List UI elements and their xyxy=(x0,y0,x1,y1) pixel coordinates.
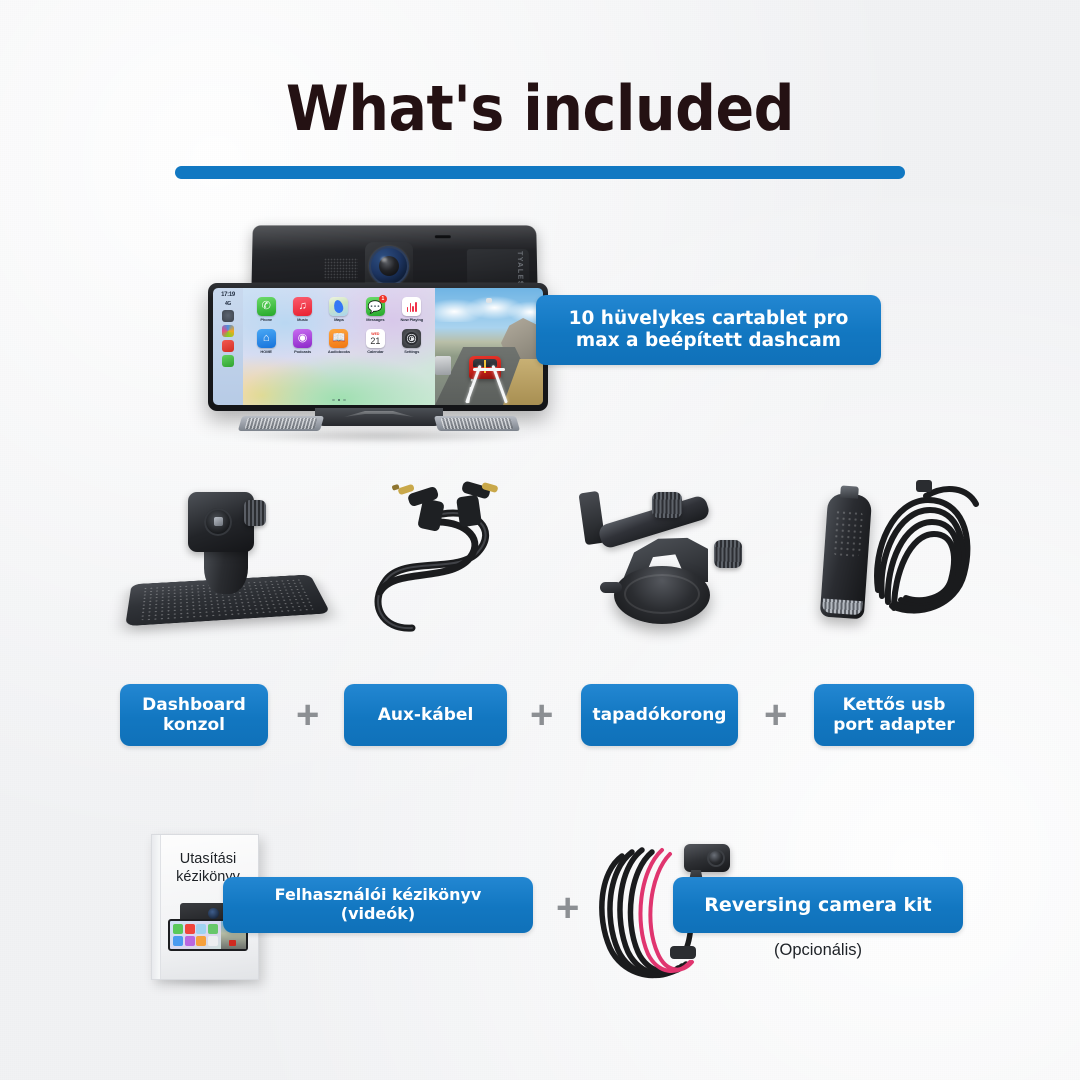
app-label: Audiobooks xyxy=(328,349,350,354)
usb-cable-coil-drawing xyxy=(806,478,996,646)
suction-cup-mount-image xyxy=(578,474,768,646)
page-title: What's included xyxy=(43,78,1037,140)
device-screen-bezel: 17:19 4G ✆ Phone ♫ xyxy=(208,283,548,411)
reverse-camera-lens-icon xyxy=(707,849,725,867)
aux-cable-drawing xyxy=(346,478,526,646)
app-label: Messages xyxy=(366,317,384,322)
map-pin-shape xyxy=(333,299,345,314)
carplay-app-audiobooks[interactable]: 📖 Audiobooks xyxy=(321,329,357,354)
manual-spine xyxy=(152,835,161,979)
app-label: HOME xyxy=(260,349,272,354)
equalizer-bars xyxy=(407,302,418,312)
mount-lock-knob-side xyxy=(714,540,742,568)
accessory-label-aux-cable: Aux-kábel xyxy=(344,684,507,746)
carplay-app-calendar[interactable]: WED 21 Calendar xyxy=(357,329,393,354)
record-icon[interactable] xyxy=(222,340,234,352)
camera-lens-ring xyxy=(369,246,409,286)
reversing-camera-label-pill: Reversing camera kit xyxy=(673,877,963,933)
carplay-app-now-playing[interactable]: Now Playing xyxy=(394,297,430,322)
oncoming-vehicle xyxy=(435,356,451,375)
manual-title-line-1: Utasítási xyxy=(180,851,236,867)
stand-grip-pad-right xyxy=(434,416,520,431)
settings-icon xyxy=(402,329,421,348)
header: What's included xyxy=(0,78,1080,179)
page-indicator-dots[interactable] xyxy=(243,399,435,402)
device-display: 17:19 4G ✆ Phone ♫ xyxy=(213,288,543,405)
messages-icon: 💬 1 xyxy=(366,297,385,316)
apps-grid-icon[interactable] xyxy=(222,325,234,337)
carplay-app-settings[interactable]: Settings xyxy=(394,329,430,354)
reverse-camera-module xyxy=(684,844,730,872)
calendar-icon: WED 21 xyxy=(366,329,385,348)
label-line-1: Kettős usb xyxy=(843,695,946,715)
app-label: Now Playing xyxy=(400,317,423,322)
maps-icon xyxy=(329,297,348,316)
carplay-app-phone[interactable]: ✆ Phone xyxy=(248,297,284,322)
car-detail-stripe xyxy=(484,360,486,373)
phone-icon: ✆ xyxy=(257,297,276,316)
manual-photo-lens-icon xyxy=(208,908,219,919)
app-label: Settings xyxy=(404,349,419,354)
accessory-label-suction-cup: tapadókorong xyxy=(581,684,738,746)
device-stand xyxy=(236,408,522,434)
suction-cup-base xyxy=(614,566,710,624)
manual-photo-app-grid xyxy=(170,921,221,949)
app-label: Calendar xyxy=(367,349,383,354)
accessory-image-row xyxy=(0,472,1080,652)
settings-play-shape xyxy=(411,337,415,341)
audiobooks-icon: 📖 xyxy=(329,329,348,348)
now-playing-icon xyxy=(402,297,421,316)
speaker-grille-icon xyxy=(324,258,358,280)
carplay-app-home[interactable]: ⌂ HOME xyxy=(248,329,284,354)
carplay-app-podcasts[interactable]: ◉ Podcasts xyxy=(284,329,320,354)
plus-separator-1: + xyxy=(296,695,319,735)
calendar-date: 21 xyxy=(370,337,380,346)
plus-separator-3: + xyxy=(764,695,787,735)
app-label: Maps xyxy=(334,317,344,322)
carplay-signal-label: 4G xyxy=(225,301,231,307)
bottom-row: Utasítási kézikönyv Felhasználói kézikön… xyxy=(0,826,1080,996)
label-line-2: port adapter xyxy=(833,715,955,735)
label-line-1: Dashboard xyxy=(142,695,246,715)
accessory-label-dashboard-console: Dashboardkonzol xyxy=(120,684,268,746)
camera-lens-glint xyxy=(381,257,387,262)
hero-callout-pill: 10 hüvelykes cartablet pro max a beépíte… xyxy=(536,295,881,365)
stand-center-block xyxy=(315,408,443,426)
carplay-app-maps[interactable]: Maps xyxy=(321,297,357,322)
carplay-sidebar[interactable]: 17:19 4G xyxy=(213,288,243,405)
title-underline-rule xyxy=(175,166,905,179)
carplay-app-music[interactable]: ♫ Music xyxy=(284,297,320,322)
app-label: Music xyxy=(297,317,308,322)
carplay-app-messages[interactable]: 💬 1 Messages xyxy=(357,297,393,322)
infographic-page: What's included TYALESS 17:19 xyxy=(0,0,1080,1080)
accessory-label-usb-adapter: Kettős usbport adapter xyxy=(814,684,974,746)
accessory-label-row: Dashboardkonzol + Aux-kábel + tapadókoro… xyxy=(0,684,1080,756)
music-note-icon: ♫ xyxy=(293,297,312,316)
plus-separator-4: + xyxy=(556,888,579,928)
stand-swoosh-detail xyxy=(344,410,414,420)
carplay-home-screen: ✆ Phone ♫ Music Maps xyxy=(243,288,435,405)
car-icon[interactable] xyxy=(222,310,234,322)
messages-badge: 1 xyxy=(379,295,387,303)
label-line-2: konzol xyxy=(163,715,225,735)
stand-grip-pad-left xyxy=(238,416,324,431)
dashcam-live-preview xyxy=(435,288,543,405)
phone-shortcut-icon[interactable] xyxy=(222,355,234,367)
home-icon: ⌂ xyxy=(257,329,276,348)
hero-product-section: TYALESS 17:19 4G ✆ Phone xyxy=(0,205,1080,465)
app-label: Podcasts xyxy=(294,349,311,354)
plus-separator-2: + xyxy=(530,695,553,735)
settings-rings-shape xyxy=(405,332,418,345)
suction-release-tab xyxy=(600,582,622,593)
microphone-slot xyxy=(435,235,451,238)
aux-cable-image xyxy=(346,478,526,646)
distant-object xyxy=(486,298,492,303)
optional-note: (Opcionális) xyxy=(673,941,963,960)
carplay-clock: 17:19 xyxy=(221,292,235,298)
carplay-app-grid: ✆ Phone ♫ Music Maps xyxy=(248,297,430,354)
podcasts-icon: ◉ xyxy=(293,329,312,348)
manual-label-pill: Felhasználói kézikönyv (videók) xyxy=(223,877,533,933)
app-label: Phone xyxy=(260,317,272,322)
dot xyxy=(343,399,346,402)
dot-active xyxy=(338,399,341,402)
mount-lock-knob-top xyxy=(652,492,682,518)
dot xyxy=(332,399,335,402)
dual-usb-adapter-image xyxy=(806,478,996,646)
console-tighten-knob xyxy=(244,500,266,526)
dashboard-console-image xyxy=(126,480,326,645)
